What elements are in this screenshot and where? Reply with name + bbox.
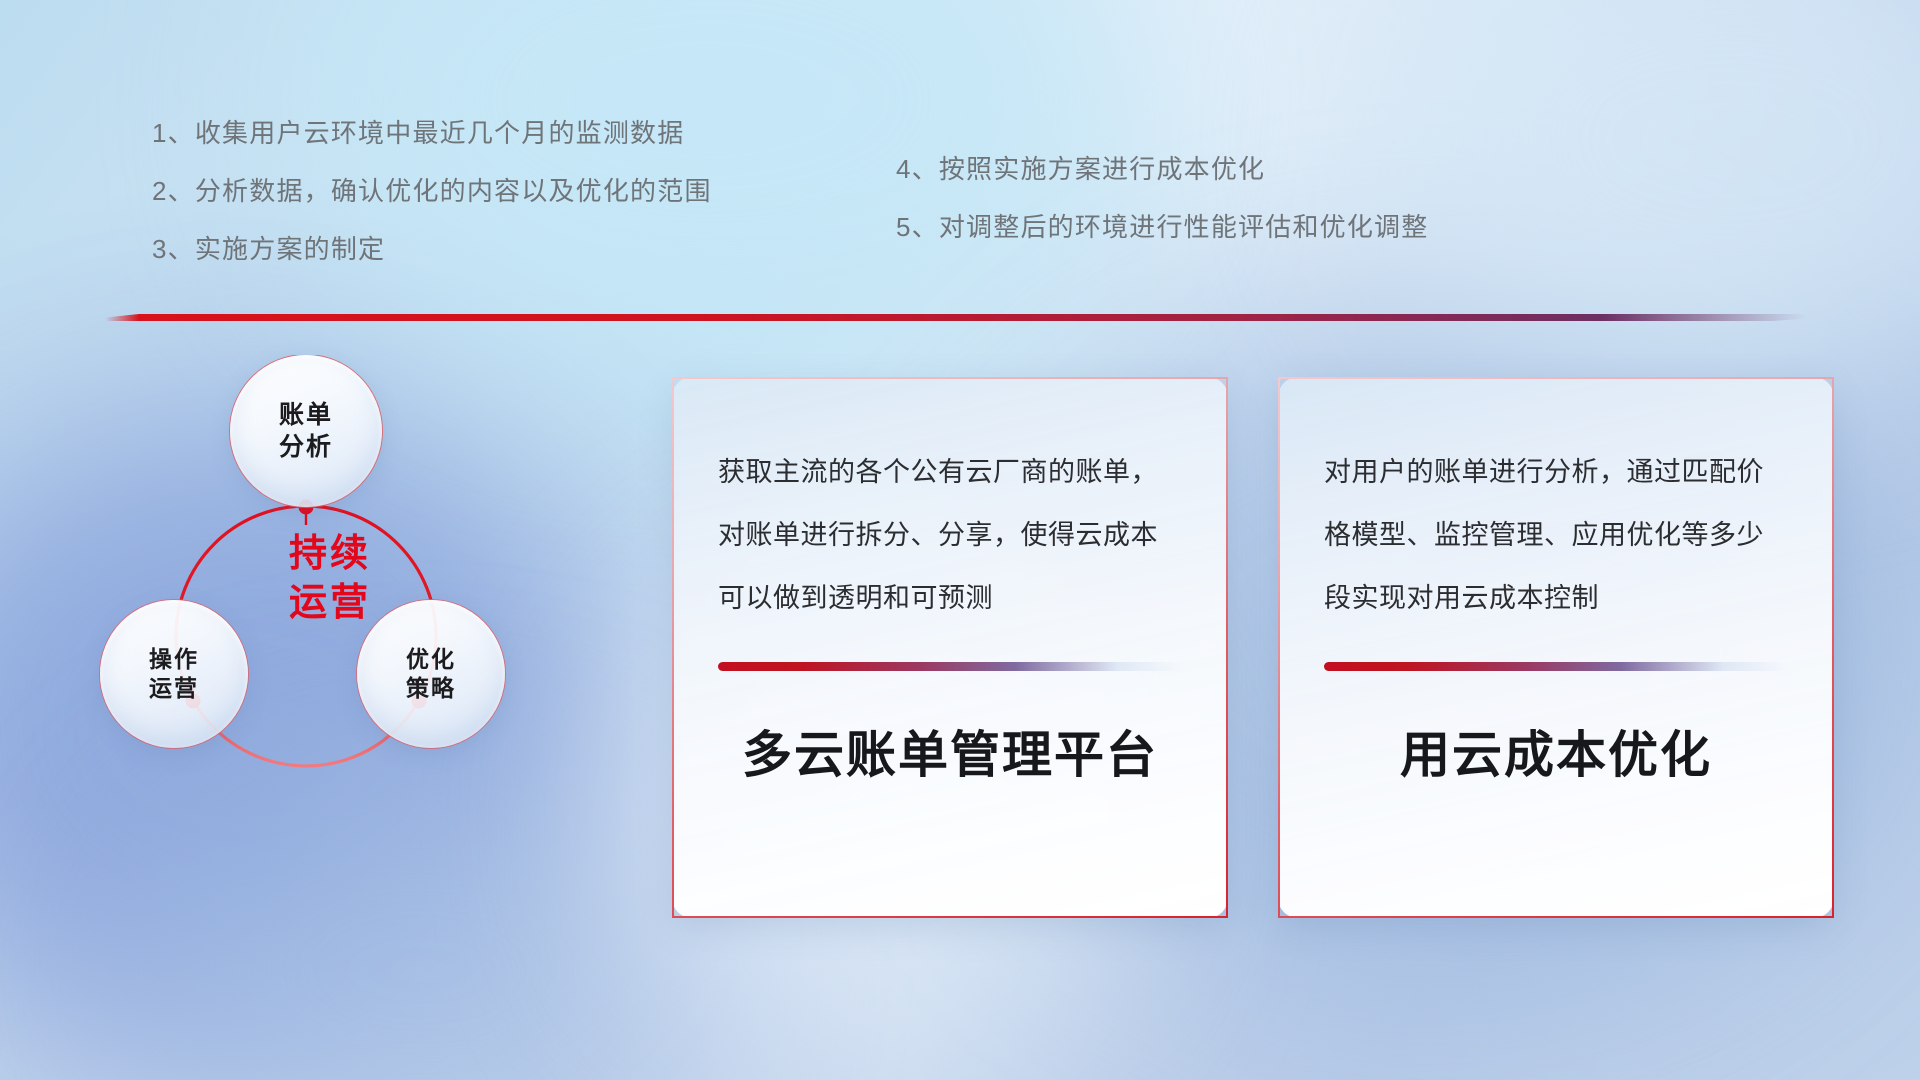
card-body-text: 对用户的账单进行分析，通过匹配价格模型、监控管理、应用优化等多少段实现对用云成本… <box>1324 441 1788 630</box>
process-steps-list: 1、收集用户云环境中最近几个月的监测数据 2、分析数据，确认优化的内容以及优化的… <box>152 104 1792 278</box>
card-title: 多云账单管理平台 <box>718 715 1182 787</box>
step-item-3: 3、实施方案的制定 <box>152 220 852 278</box>
feature-card-multicloud-billing[interactable]: 获取主流的各个公有云厂商的账单，对账单进行拆分、分享，使得云成本可以做到透明和可… <box>672 377 1228 918</box>
venn-bubble-operations[interactable]: 操作 运营 <box>100 600 248 748</box>
feature-card-list: 获取主流的各个公有云厂商的账单，对账单进行拆分、分享，使得云成本可以做到透明和可… <box>672 377 1834 918</box>
step-item-2: 2、分析数据，确认优化的内容以及优化的范围 <box>152 162 852 220</box>
feature-card-cost-optimization[interactable]: 对用户的账单进行分析，通过匹配价格模型、监控管理、应用优化等多少段实现对用云成本… <box>1278 377 1834 918</box>
section-divider <box>105 314 1807 321</box>
card-title: 用云成本优化 <box>1324 715 1788 787</box>
venn-center-label-line1: 持续 <box>245 530 415 579</box>
venn-bubble-label-line2: 策略 <box>406 674 456 703</box>
venn-bubble-label-line1: 账单 <box>279 399 333 431</box>
venn-center-label: 持续 运营 <box>245 530 415 627</box>
steps-left-column: 1、收集用户云环境中最近几个月的监测数据 2、分析数据，确认优化的内容以及优化的… <box>152 104 852 278</box>
steps-right-column: 4、按照实施方案进行成本优化 5、对调整后的环境进行性能评估和优化调整 <box>852 104 1656 278</box>
venn-center-label-line2: 运营 <box>245 579 415 628</box>
venn-bubble-label-line1: 优化 <box>406 645 456 674</box>
venn-bubble-bill-analysis[interactable]: 账单 分析 <box>230 355 382 507</box>
venn-bubble-label-line2: 运营 <box>149 674 199 703</box>
card-body-text: 获取主流的各个公有云厂商的账单，对账单进行拆分、分享，使得云成本可以做到透明和可… <box>718 441 1182 630</box>
step-item-4: 4、按照实施方案进行成本优化 <box>896 140 1656 198</box>
slide-canvas: 1、收集用户云环境中最近几个月的监测数据 2、分析数据，确认优化的内容以及优化的… <box>0 0 1920 1080</box>
venn-bubble-label-line2: 分析 <box>279 431 333 463</box>
step-item-5: 5、对调整后的环境进行性能评估和优化调整 <box>896 198 1656 256</box>
card-accent-rule <box>718 662 1182 671</box>
continuous-operation-diagram: 持续 运营 账单 分析 操作 运营 优化 策略 <box>95 355 565 875</box>
venn-bubble-label-line1: 操作 <box>149 645 199 674</box>
card-accent-rule <box>1324 662 1788 671</box>
step-item-1: 1、收集用户云环境中最近几个月的监测数据 <box>152 104 852 162</box>
